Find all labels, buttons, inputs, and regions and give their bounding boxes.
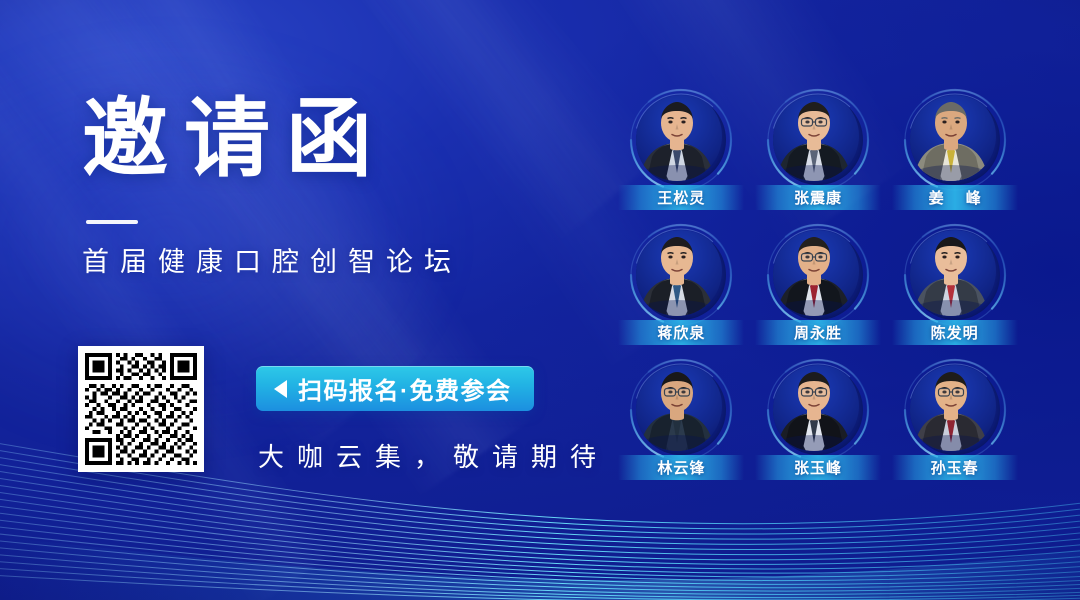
speaker-nameplate: 姜 峰 — [892, 185, 1018, 210]
portrait-ring — [905, 360, 1005, 460]
speaker-card[interactable]: 陈发明 — [889, 221, 1020, 356]
portrait-ring — [905, 225, 1005, 325]
portrait-ring — [631, 360, 731, 460]
portrait-ring — [905, 90, 1005, 190]
portrait-ring — [768, 90, 868, 190]
speaker-card[interactable]: 周永胜 — [753, 221, 884, 356]
speaker-nameplate: 林云锋 — [618, 455, 744, 480]
speaker-card[interactable]: 姜 峰 — [889, 86, 1020, 221]
speaker-name: 孙玉春 — [931, 457, 979, 478]
cta-column: 扫码报名·免费参会 大咖云集，敬请期待 — [256, 346, 609, 474]
portrait-ring — [768, 360, 868, 460]
speaker-nameplate: 张震康 — [755, 185, 881, 210]
portrait-ring — [631, 225, 731, 325]
tagline: 大咖云集，敬请期待 — [258, 437, 609, 474]
speaker-name: 蒋欣泉 — [657, 322, 705, 343]
qr-code-icon — [85, 353, 197, 465]
speaker-nameplate: 孙玉春 — [892, 455, 1018, 480]
speaker-nameplate: 周永胜 — [755, 320, 881, 345]
speaker-card[interactable]: 孙玉春 — [889, 356, 1020, 491]
speaker-portrait — [636, 365, 726, 455]
speaker-name: 陈发明 — [931, 322, 979, 343]
portrait-ring — [631, 90, 731, 190]
headline-block: 邀请函 首届健康口腔创智论坛 — [82, 96, 582, 279]
speaker-name: 张震康 — [794, 187, 842, 208]
speaker-card[interactable]: 张震康 — [753, 86, 884, 221]
speaker-card[interactable]: 王松灵 — [616, 86, 747, 221]
speaker-portrait — [910, 365, 1000, 455]
speaker-name: 张玉峰 — [794, 457, 842, 478]
registration-block: 扫码报名·免费参会 大咖云集，敬请期待 — [78, 346, 609, 474]
invitation-poster: 邀请函 首届健康口腔创智论坛 — [0, 0, 1080, 600]
speaker-card[interactable]: 蒋欣泉 — [616, 221, 747, 356]
speaker-portrait — [773, 95, 863, 185]
speaker-nameplate: 张玉峰 — [755, 455, 881, 480]
speaker-nameplate: 陈发明 — [892, 320, 1018, 345]
triangle-left-icon — [274, 380, 287, 398]
speaker-portrait — [636, 95, 726, 185]
speaker-card[interactable]: 林云锋 — [616, 356, 747, 491]
speaker-nameplate: 王松灵 — [618, 185, 744, 210]
speaker-grid: 王松灵 — [616, 86, 1020, 491]
title-divider — [86, 220, 138, 224]
register-button-label: 扫码报名·免费参会 — [298, 371, 512, 406]
speaker-portrait — [910, 95, 1000, 185]
speaker-name: 林云锋 — [657, 457, 705, 478]
speaker-portrait — [773, 230, 863, 320]
qr-code-card[interactable] — [78, 346, 204, 472]
register-button[interactable]: 扫码报名·免费参会 — [256, 366, 534, 411]
speaker-portrait — [910, 230, 1000, 320]
speaker-card[interactable]: 张玉峰 — [753, 356, 884, 491]
speaker-name: 王松灵 — [657, 187, 705, 208]
speaker-name: 姜 峰 — [920, 187, 990, 208]
speaker-portrait — [773, 365, 863, 455]
speaker-nameplate: 蒋欣泉 — [618, 320, 744, 345]
speaker-name: 周永胜 — [794, 322, 842, 343]
page-subtitle: 首届健康口腔创智论坛 — [82, 240, 582, 279]
portrait-ring — [768, 225, 868, 325]
page-title: 邀请函 — [82, 96, 582, 182]
speaker-portrait — [636, 230, 726, 320]
